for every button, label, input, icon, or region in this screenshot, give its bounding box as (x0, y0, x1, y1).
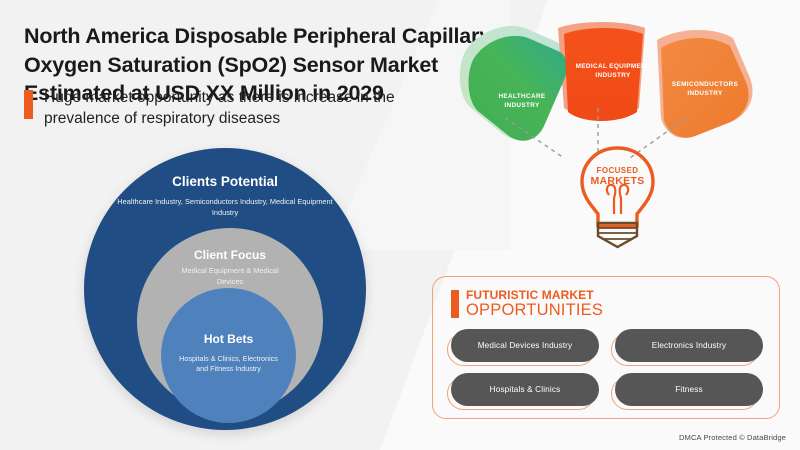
pill-item: Fitness (615, 373, 763, 406)
panel-accent-bar-icon (451, 290, 459, 318)
petal-medical-equipment-label: MEDICAL EQUIPMENT INDUSTRY (553, 62, 673, 80)
copyright-footer: DMCA Protected © DataBridge (679, 433, 786, 442)
futuristic-opportunities-panel: FUTURISTIC MARKET OPPORTUNITIES Medical … (432, 276, 780, 419)
circle-client-focus-subtitle: Medical Equipment & Medical Devices (137, 266, 323, 287)
petal-semi-label-line2: INDUSTRY (687, 90, 722, 97)
pill-hospitals-clinics[interactable]: Hospitals & Clinics (451, 373, 599, 406)
petal-semi-label-line1: SEMICONDUCTORS (672, 81, 738, 88)
panel-heading-line1: FUTURISTIC MARKET (466, 289, 603, 302)
pill-electronics-industry[interactable]: Electronics Industry (615, 329, 763, 362)
pill-medical-devices-industry[interactable]: Medical Devices Industry (451, 329, 599, 362)
circle-clients-potential-subtitle: Healthcare Industry, Semiconductors Indu… (84, 196, 366, 218)
page-subtitle: Huge market opportunity as there is incr… (44, 88, 474, 130)
petal-medical-label-line1: MEDICAL EQUIPMENT (576, 63, 651, 70)
circle-hot-bets-title: Hot Bets (161, 332, 296, 346)
petal-healthcare-label-line1: HEALTHCARE (498, 93, 545, 100)
accent-bar-icon (24, 90, 33, 119)
subtitle-block: Huge market opportunity as there is incr… (24, 88, 474, 130)
pill-item: Electronics Industry (615, 329, 763, 362)
pill-fitness[interactable]: Fitness (615, 373, 763, 406)
focused-markets-bulb[interactable]: FOCUSED MARKETS (560, 140, 675, 255)
pill-item: Hospitals & Clinics (451, 373, 599, 406)
petal-semiconductors-label: SEMICONDUCTORS INDUSTRY (645, 80, 765, 98)
panel-heading-line2: OPPORTUNITIES (466, 302, 603, 319)
circle-clients-potential-title: Clients Potential (84, 174, 366, 189)
panel-heading: FUTURISTIC MARKET OPPORTUNITIES (451, 289, 603, 319)
pill-item: Medical Devices Industry (451, 329, 599, 362)
client-segments-diagram: Clients Potential Healthcare Industry, S… (84, 148, 369, 438)
circle-hot-bets[interactable]: Hot Bets Hospitals & Clinics, Electronic… (161, 288, 296, 423)
petal-medical-label-line2: INDUSTRY (595, 72, 630, 79)
infographic-canvas: North America Disposable Peripheral Capi… (0, 0, 800, 450)
opportunity-pill-grid: Medical Devices Industry Electronics Ind… (451, 329, 763, 406)
circle-hot-bets-subtitle: Hospitals & Clinics, Electronics and Fit… (161, 354, 296, 375)
circle-client-focus-title: Client Focus (137, 248, 323, 262)
lightbulb-icon (560, 140, 675, 255)
